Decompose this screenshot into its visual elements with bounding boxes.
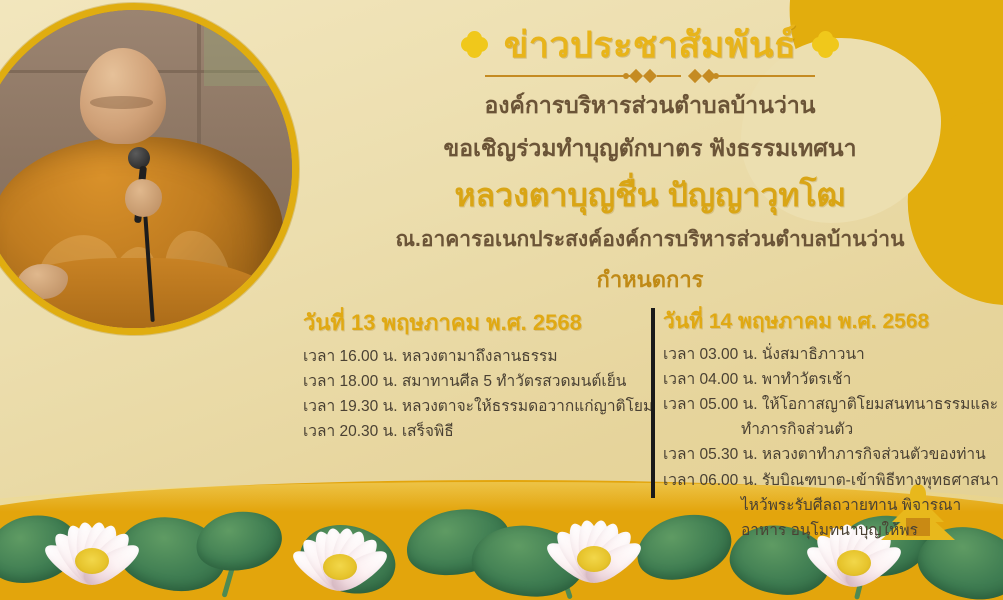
divider-gem <box>643 69 657 83</box>
venue-text: ณ.อาคารอเนกประสงค์องค์การบริหารส่วนตำบลบ… <box>300 225 1000 254</box>
organization-name: องค์การบริหารส่วนตำบลบ้านว่าน <box>300 89 1000 122</box>
list-item: เวลา 19.30 น. หลวงตาจะให้ธรรมดอวากแก่ญาต… <box>303 394 643 419</box>
lotus-core <box>75 548 109 574</box>
lotus-core <box>837 550 871 576</box>
header-block: ข่าวประชาสัมพันธ์ องค์การบริหารส่วนตำบลบ… <box>300 22 1000 297</box>
schedule-divider <box>651 308 655 498</box>
quatrefoil-icon <box>812 31 839 58</box>
monk-face-shade <box>90 96 153 109</box>
lotus-core <box>577 546 611 572</box>
list-item: เวลา 04.00 น. พาทำวัตรเช้า <box>663 367 993 392</box>
monk-name: หลวงตาบุญชื่น ปัญญาวุทโฒ <box>300 174 1000 217</box>
list-item-continuation: ไหว้พระรับศีลถวายทาน พิจารณา <box>663 493 993 518</box>
list-item-continuation: อาหาร อนุโมทนาบุญให้พร <box>663 518 993 543</box>
list-item: เวลา 06.00 น. รับบิณฑบาต-เข้าพิธีทางพุทธ… <box>663 468 993 493</box>
monk-portrait-frame <box>0 3 299 335</box>
list-item: เวลา 03.00 น. นั่งสมาธิภาวนา <box>663 342 993 367</box>
title-divider-ornament <box>485 69 815 83</box>
title-row: ข่าวประชาสัมพันธ์ <box>300 22 1000 67</box>
schedule-date-day1: วันที่ 13 พฤษภาคม พ.ศ. 2568 <box>303 305 643 340</box>
schedule-items-day2: เวลา 03.00 น. นั่งสมาธิภาวนา เวลา 04.00 … <box>663 342 993 543</box>
divider-bar-left <box>485 75 633 77</box>
divider-gem <box>629 69 643 83</box>
schedule-column-day1: วันที่ 13 พฤษภาคม พ.ศ. 2568 เวลา 16.00 น… <box>303 305 643 444</box>
list-item: เวลา 16.00 น. หลวงตามาถึงลานธรรม <box>303 344 643 369</box>
schedule-date-day2: วันที่ 14 พฤษภาคม พ.ศ. 2568 <box>663 305 993 338</box>
list-item: เวลา 20.30 น. เสร็จพิธี <box>303 419 643 444</box>
list-item-continuation: ทำภารกิจส่วนตัว <box>663 417 993 442</box>
poster-canvas: ข่าวประชาสัมพันธ์ องค์การบริหารส่วนตำบลบ… <box>0 0 1003 600</box>
monk-portrait-photo <box>0 10 292 328</box>
schedule-block: วันที่ 13 พฤษภาคม พ.ศ. 2568 เวลา 16.00 น… <box>0 305 1003 520</box>
divider-bar-right <box>707 75 815 77</box>
quatrefoil-icon <box>461 31 488 58</box>
agenda-label: กำหนดการ <box>300 262 1000 297</box>
page-title: ข่าวประชาสัมพันธ์ <box>504 22 796 67</box>
divider-gem <box>688 69 702 83</box>
list-item: เวลา 05.30 น. หลวงตาทำภารกิจส่วนตัวของท่… <box>663 442 993 467</box>
list-item: เวลา 18.00 น. สมาทานศีล 5 ทำวัตรสวดมนต์เ… <box>303 369 643 394</box>
schedule-column-day2: วันที่ 14 พฤษภาคม พ.ศ. 2568 เวลา 03.00 น… <box>663 305 993 543</box>
divider-bar-middle <box>657 75 681 77</box>
list-item: เวลา 05.00 น. ให้โอกาสญาติโยมสนทนาธรรมแล… <box>663 392 993 417</box>
lotus-core <box>323 554 357 580</box>
microphone-icon <box>128 147 150 169</box>
invitation-text: ขอเชิญร่วมทำบุญตักบาตร ฟังธรรมเทศนา <box>300 132 1000 165</box>
wall-panel <box>204 10 292 86</box>
monk-hand <box>125 179 163 217</box>
schedule-items-day1: เวลา 16.00 น. หลวงตามาถึงลานธรรม เวลา 18… <box>303 344 643 444</box>
